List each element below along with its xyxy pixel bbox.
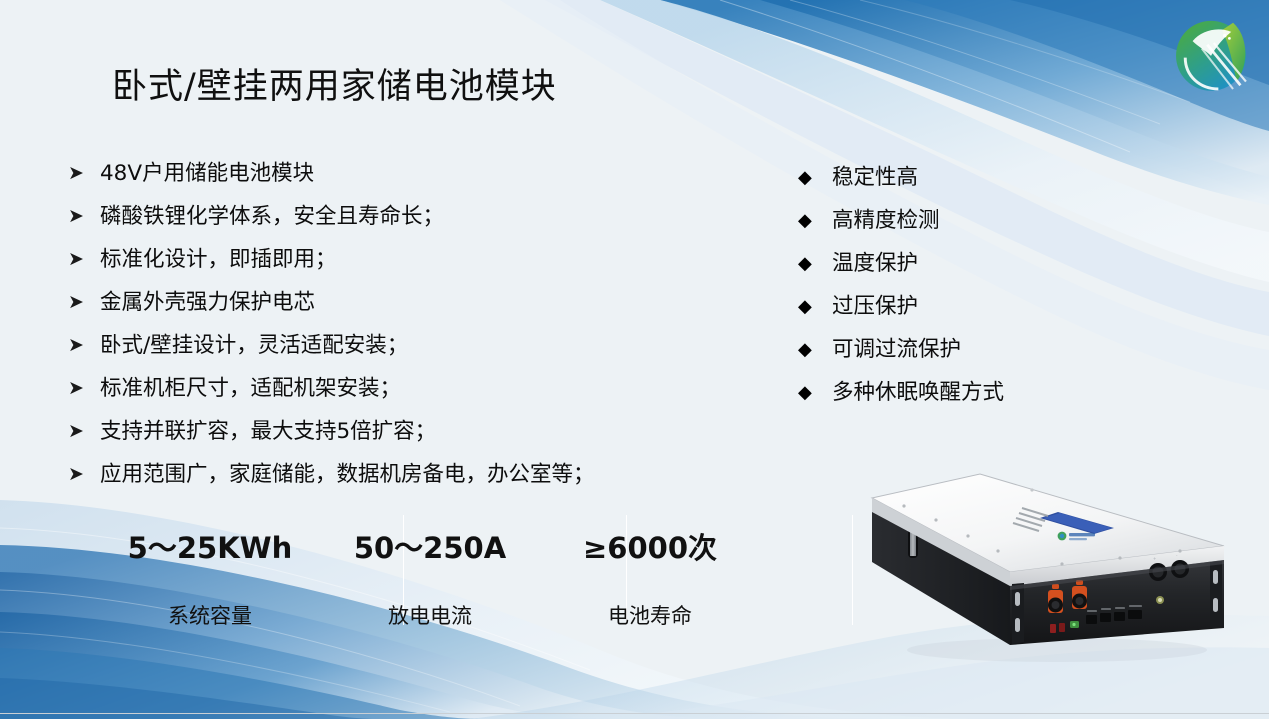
arrow-bullet-icon: ➤: [68, 152, 100, 195]
arrow-bullet-icon: ➤: [68, 281, 100, 324]
stat-label: 电池寿命: [540, 600, 760, 630]
diamond-bullet-icon: ◆: [798, 199, 832, 242]
product-image: + -: [862, 450, 1234, 680]
list-item: ◆ 多种休眠唤醒方式: [798, 371, 1128, 414]
list-item-label: 稳定性高: [832, 156, 918, 199]
stat-label: 系统容量: [100, 600, 320, 630]
list-item-label: 过压保护: [832, 285, 918, 328]
list-item-label: 48V户用储能电池模块: [100, 152, 314, 195]
list-item: ◆ 过压保护: [798, 285, 1128, 328]
diamond-bullet-icon: ◆: [798, 328, 832, 371]
list-item: ◆ 可调过流保护: [798, 328, 1128, 371]
list-item: ➤ 标准化设计，即插即用；: [68, 238, 728, 281]
bottom-divider: [0, 713, 1269, 714]
list-item-label: 高精度检测: [832, 199, 940, 242]
arrow-bullet-icon: ➤: [68, 195, 100, 238]
list-item-label: 可调过流保护: [832, 328, 961, 371]
list-item: ➤ 48V户用储能电池模块: [68, 152, 728, 195]
list-item: ➤ 标准机柜尺寸，适配机架安装；: [68, 367, 728, 410]
stat-discharge-current: 50～250A 放电电流: [320, 513, 540, 628]
arrow-bullet-icon: ➤: [68, 367, 100, 410]
stat-capacity: 5～25KWh 系统容量: [100, 513, 320, 628]
list-item: ◆ 高精度检测: [798, 199, 1128, 242]
list-item-label: 支持并联扩容，最大支持5倍扩容；: [100, 410, 436, 453]
svg-text:+: +: [1153, 556, 1156, 561]
diamond-bullet-icon: ◆: [798, 371, 832, 414]
arrow-bullet-icon: ➤: [68, 410, 100, 453]
company-logo-icon: [1163, 8, 1259, 100]
slide-canvas: 卧式/壁挂两用家储电池模块 ➤ 48V户用储能电池模块 ➤ 磷酸铁锂化学体系，安…: [0, 0, 1269, 719]
list-item-label: 温度保护: [832, 242, 918, 285]
list-item-label: 金属外壳强力保护电芯: [100, 281, 315, 324]
page-title: 卧式/壁挂两用家储电池模块: [112, 58, 557, 109]
list-item-label: 卧式/壁挂设计，灵活适配安装；: [100, 324, 408, 367]
diamond-bullet-icon: ◆: [798, 285, 832, 328]
stat-cycle-life: ≥6000次 电池寿命: [540, 513, 760, 628]
diamond-bullet-icon: ◆: [798, 242, 832, 285]
stat-divider: [852, 515, 853, 625]
stat-value: 5～25KWh: [100, 525, 320, 567]
list-item-label: 多种休眠唤醒方式: [832, 371, 1004, 414]
list-item: ➤ 金属外壳强力保护电芯: [68, 281, 728, 324]
right-feature-list: ◆ 稳定性高 ◆ 高精度检测 ◆ 温度保护 ◆ 过压保护 ◆ 可调过流保护 ◆ …: [798, 156, 1128, 414]
arrow-bullet-icon: ➤: [68, 453, 100, 496]
list-item-label: 标准机柜尺寸，适配机架安装；: [100, 367, 401, 410]
list-item: ➤ 卧式/壁挂设计，灵活适配安装；: [68, 324, 728, 367]
stat-label: 放电电流: [320, 600, 540, 630]
list-item-label: 磷酸铁锂化学体系，安全且寿命长；: [100, 195, 444, 238]
list-item: ➤ 应用范围广，家庭储能，数据机房备电，办公室等；: [68, 453, 728, 496]
list-item: ➤ 支持并联扩容，最大支持5倍扩容；: [68, 410, 728, 453]
list-item: ➤ 磷酸铁锂化学体系，安全且寿命长；: [68, 195, 728, 238]
list-item-label: 应用范围广，家庭储能，数据机房备电，办公室等；: [100, 453, 595, 496]
diamond-bullet-icon: ◆: [798, 156, 832, 199]
key-stats-row: 5～25KWh 系统容量 50～250A 放电电流 ≥6000次 电池寿命: [100, 513, 760, 628]
arrow-bullet-icon: ➤: [68, 324, 100, 367]
left-feature-list: ➤ 48V户用储能电池模块 ➤ 磷酸铁锂化学体系，安全且寿命长； ➤ 标准化设计…: [68, 152, 728, 496]
stat-value: 50～250A: [320, 525, 540, 567]
arrow-bullet-icon: ➤: [68, 238, 100, 281]
list-item: ◆ 温度保护: [798, 242, 1128, 285]
list-item: ◆ 稳定性高: [798, 156, 1128, 199]
list-item-label: 标准化设计，即插即用；: [100, 238, 337, 281]
stat-value: ≥6000次: [540, 525, 760, 567]
